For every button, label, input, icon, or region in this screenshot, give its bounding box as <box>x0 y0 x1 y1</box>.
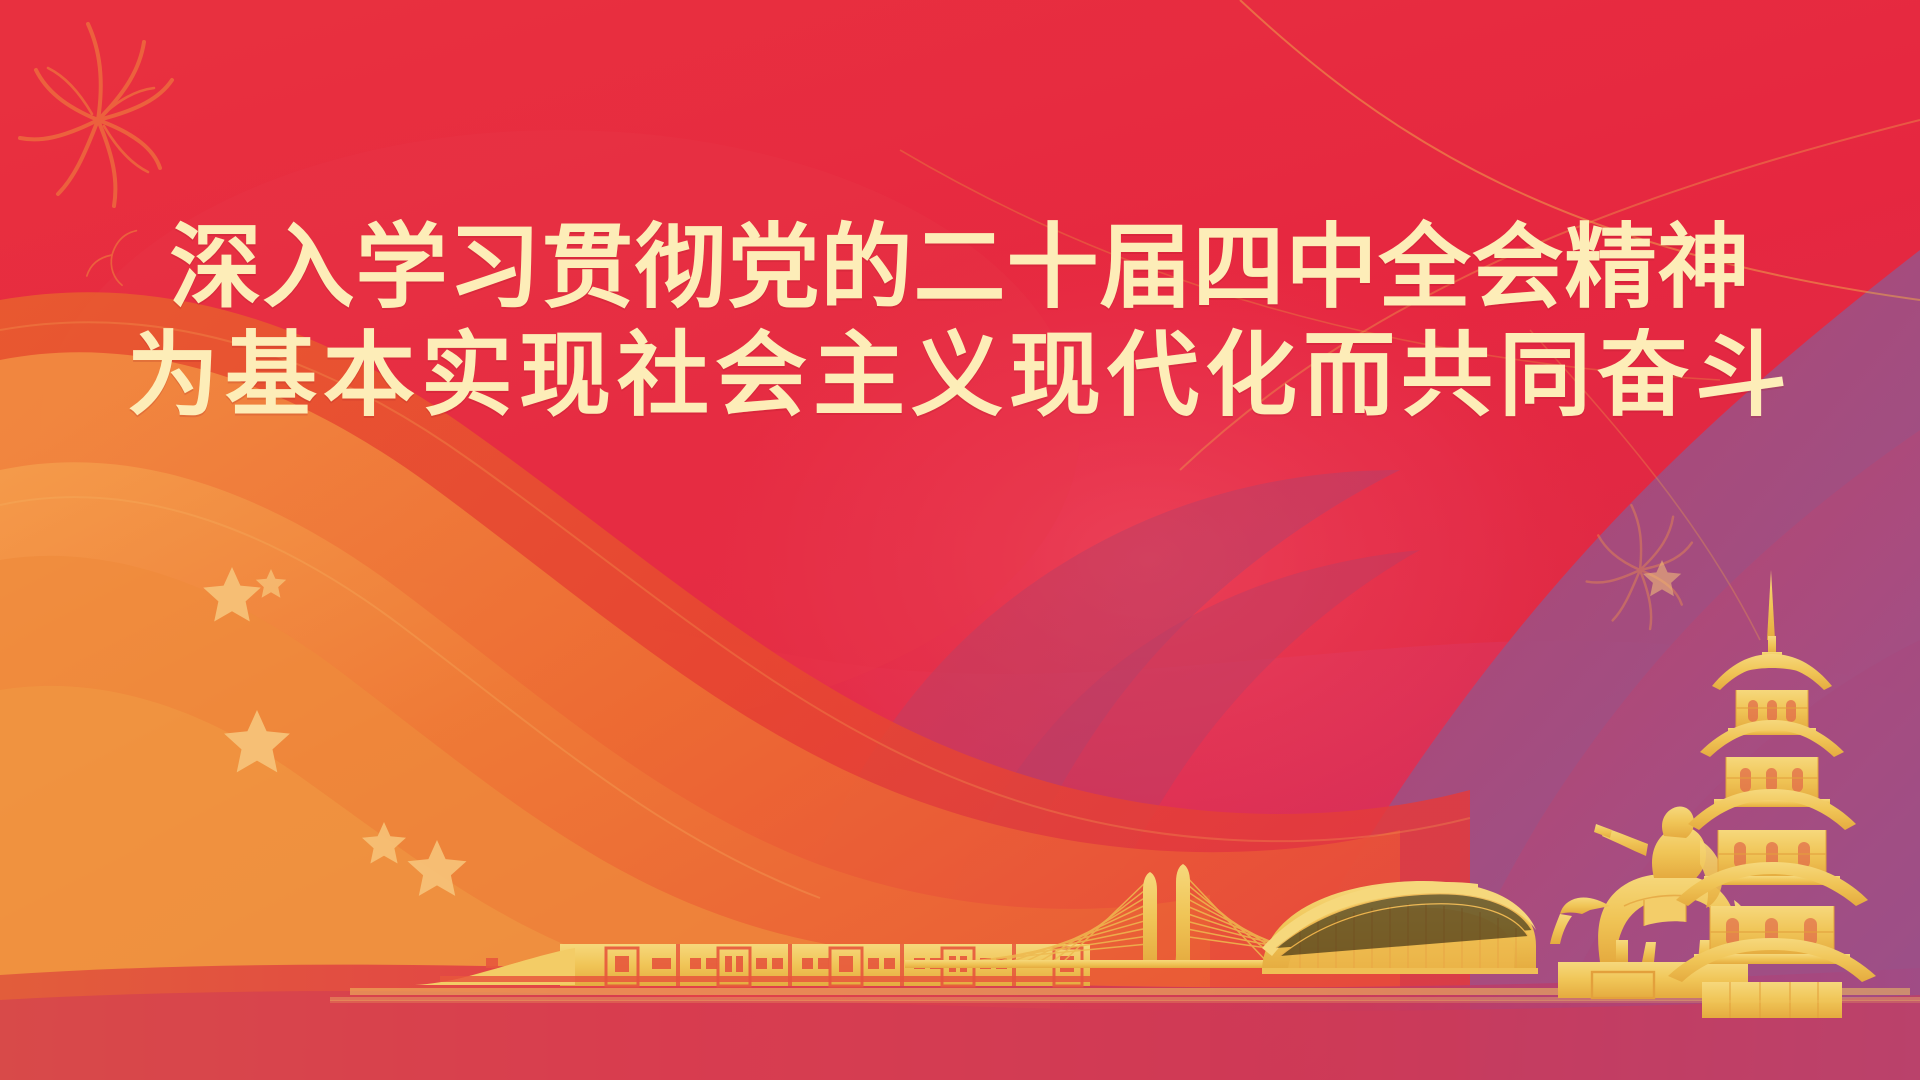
oval-stadium <box>1262 881 1538 974</box>
skyline-illustration <box>0 0 1920 1080</box>
poster-canvas: 深入学习贯彻党的二十届四中全会精神 为基本实现社会主义现代化而共同奋斗 <box>0 0 1920 1080</box>
